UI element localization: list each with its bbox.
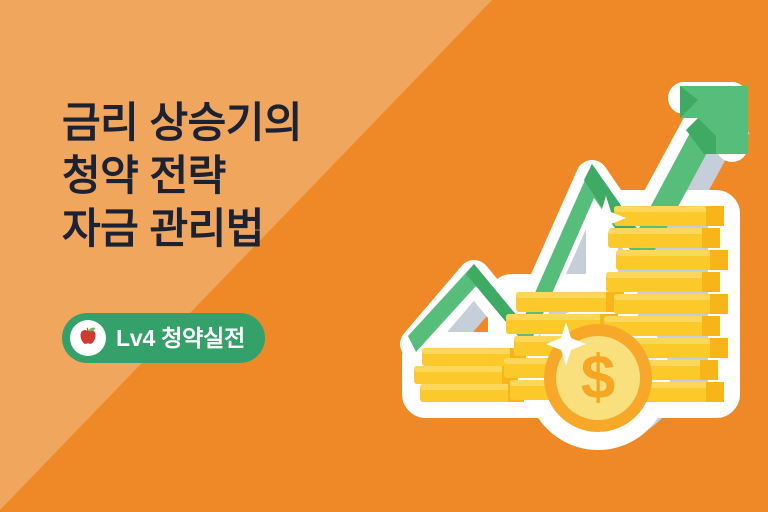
promo-banner: 금리 상승기의 청약 전략 자금 관리법 Lv4 청약실전: [0, 0, 768, 512]
illustration-svg: $: [368, 52, 768, 462]
apple-icon: [70, 320, 106, 356]
headline-line-2: 청약 전략: [62, 149, 392, 202]
headline-block: 금리 상승기의 청약 전략 자금 관리법: [62, 96, 392, 255]
level-badge[interactable]: Lv4 청약실전: [62, 313, 265, 363]
headline-line-3: 자금 관리법: [62, 202, 392, 255]
dollar-symbol: $: [581, 344, 615, 413]
level-badge-label: Lv4 청약실전: [116, 327, 245, 350]
rising-coins-chart-illustration: $: [368, 52, 768, 462]
headline-line-1: 금리 상승기의: [62, 96, 392, 149]
